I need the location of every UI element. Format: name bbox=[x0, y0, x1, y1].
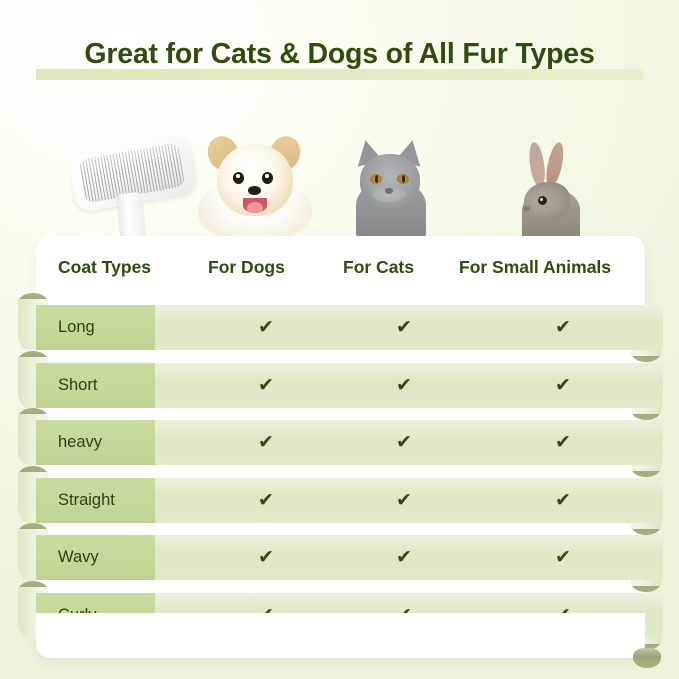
row-label-cell: Wavy bbox=[36, 535, 155, 580]
check-icon-dogs: ✔ bbox=[251, 535, 281, 580]
check-icon-dogs: ✔ bbox=[251, 363, 281, 408]
check-icon-cats: ✔ bbox=[389, 535, 419, 580]
row-label: Long bbox=[58, 318, 95, 337]
check-icon-small-animals: ✔ bbox=[548, 478, 578, 523]
table-header-row: Coat Types For Dogs For Cats For Small A… bbox=[36, 236, 645, 299]
column-header-for-cats: For Cats bbox=[343, 257, 414, 278]
table-row: Straight✔✔✔ bbox=[18, 478, 661, 523]
check-icon-dogs: ✔ bbox=[251, 420, 281, 465]
column-header-for-small-animals: For Small Animals bbox=[459, 257, 611, 278]
check-icon-small-animals: ✔ bbox=[548, 535, 578, 580]
table-row: Long✔✔✔ bbox=[18, 305, 661, 350]
row-label: heavy bbox=[58, 433, 102, 452]
row-label-cell: Straight bbox=[36, 478, 155, 523]
check-icon-dogs: ✔ bbox=[251, 478, 281, 523]
check-icon-cats: ✔ bbox=[389, 363, 419, 408]
promo-feature-panel: Great for Cats & Dogs of All Fur Types bbox=[0, 0, 679, 679]
column-header-coat-types: Coat Types bbox=[58, 257, 151, 278]
table-row: heavy✔✔✔ bbox=[18, 420, 661, 465]
column-header-for-dogs: For Dogs bbox=[208, 257, 285, 278]
row-label: Wavy bbox=[58, 548, 99, 567]
table-row: Wavy✔✔✔ bbox=[18, 535, 661, 580]
check-icon-small-animals: ✔ bbox=[548, 305, 578, 350]
row-label: Short bbox=[58, 376, 97, 395]
table-body: Long✔✔✔Short✔✔✔heavy✔✔✔Straight✔✔✔Wavy✔✔… bbox=[0, 0, 679, 679]
row-label: Straight bbox=[58, 491, 115, 510]
check-icon-cats: ✔ bbox=[389, 305, 419, 350]
check-icon-cats: ✔ bbox=[389, 420, 419, 465]
check-icon-small-animals: ✔ bbox=[548, 420, 578, 465]
ribbon-fold-right-icon bbox=[633, 648, 661, 668]
table-row: Short✔✔✔ bbox=[18, 363, 661, 408]
row-label-cell: heavy bbox=[36, 420, 155, 465]
check-icon-small-animals: ✔ bbox=[548, 363, 578, 408]
row-label-cell: Short bbox=[36, 363, 155, 408]
card-bottom-strip bbox=[36, 613, 645, 658]
check-icon-dogs: ✔ bbox=[251, 305, 281, 350]
row-label-cell: Long bbox=[36, 305, 155, 350]
check-icon-cats: ✔ bbox=[389, 478, 419, 523]
